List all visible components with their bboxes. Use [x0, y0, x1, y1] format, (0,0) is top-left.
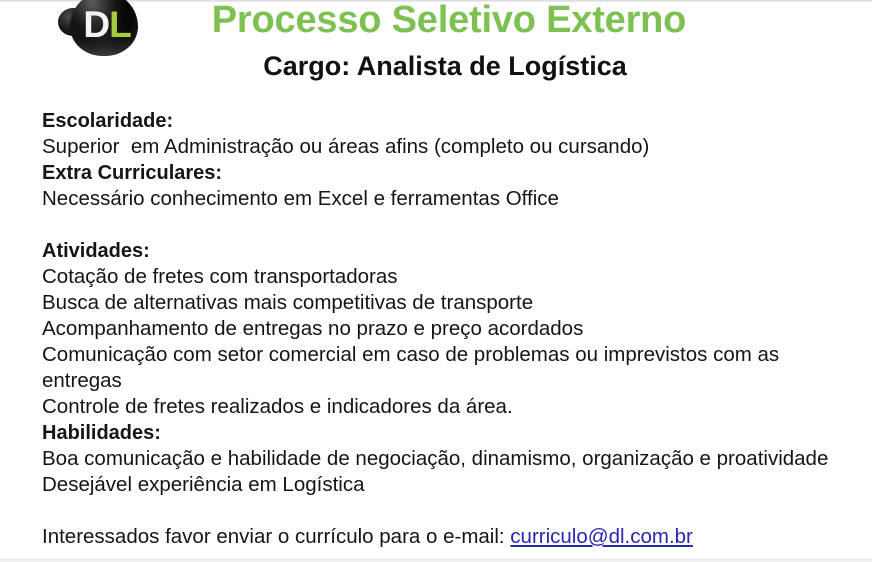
- body-line: Acompanhamento de entregas no prazo e pr…: [42, 316, 832, 342]
- body-line: Busca de alternativas mais competitivas …: [42, 290, 832, 316]
- section-heading: Habilidades:: [42, 420, 832, 446]
- contact-line: Interessados favor enviar o currículo pa…: [42, 524, 832, 550]
- page-title: Processo Seletivo Externo: [0, 1, 872, 41]
- posting-header: DL Processo Seletivo Externo Cargo: Anal…: [0, 0, 872, 96]
- body-line: Boa comunicação e habilidade de negociaç…: [42, 446, 832, 472]
- body-line: Necessário conhecimento em Excel e ferra…: [42, 186, 832, 212]
- posting-body: Escolaridade:Superior em Administração o…: [42, 108, 832, 550]
- job-posting-page: DL Processo Seletivo Externo Cargo: Anal…: [0, 0, 872, 562]
- contact-line-text: Interessados favor enviar o currículo pa…: [42, 525, 510, 548]
- body-line: Comunicação com setor comercial em caso …: [42, 342, 832, 394]
- body-line: Controle de fretes realizados e indicado…: [42, 394, 832, 420]
- section-heading: Atividades:: [42, 238, 832, 264]
- body-line: Desejável experiência em Logística: [42, 472, 832, 498]
- section-heading: Escolaridade:: [42, 108, 832, 134]
- blank-line: [42, 212, 832, 238]
- body-line: Superior em Administração ou áreas afins…: [42, 134, 832, 160]
- body-line: Cotação de fretes com transportadoras: [42, 264, 832, 290]
- page-subtitle: Cargo: Analista de Logística: [0, 52, 872, 82]
- email-link[interactable]: curriculo@dl.com.br: [510, 525, 693, 548]
- blank-line: [42, 498, 832, 524]
- section-heading: Extra Curriculares:: [42, 160, 832, 186]
